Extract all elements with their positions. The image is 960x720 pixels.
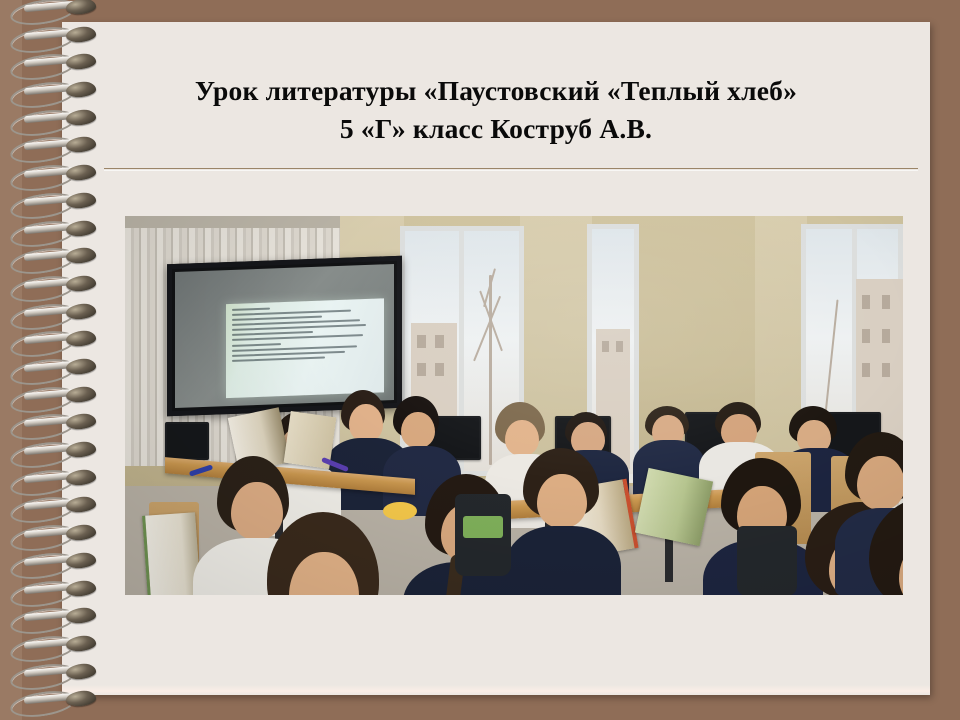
- outside-building-window: [882, 363, 890, 377]
- open-textbook: [635, 468, 713, 546]
- projected-text-line: [232, 310, 351, 316]
- student-head: [857, 456, 903, 510]
- tree-branch: [489, 275, 492, 465]
- projected-text-line: [232, 335, 363, 342]
- projected-text-line: [232, 307, 270, 310]
- projected-text-line: [232, 343, 281, 347]
- outside-building-window: [417, 335, 426, 348]
- outside-building-window: [882, 329, 890, 343]
- outside-building-window: [616, 341, 623, 352]
- projected-text-line: [232, 331, 313, 336]
- outside-building-window: [862, 363, 870, 377]
- spiral-ring-tip: [65, 0, 97, 16]
- background-left-strip: [0, 0, 22, 720]
- spiral-ring-wire-highlight: [24, 1, 76, 13]
- computer-monitor: [165, 422, 209, 460]
- title-line-2: 5 «Г» класс Коструб А.В.: [104, 110, 888, 148]
- outside-building-window: [435, 363, 444, 376]
- outside-building-window: [882, 295, 890, 309]
- outside-building-window: [417, 363, 426, 376]
- projected-text-line: [232, 324, 366, 331]
- title-line-1: Урок литературы «Паустовский «Теплый хле…: [104, 72, 888, 110]
- page-title: Урок литературы «Паустовский «Теплый хле…: [104, 72, 888, 148]
- title-divider-highlight: [104, 170, 918, 171]
- student-head: [401, 412, 435, 448]
- student-head: [349, 404, 383, 442]
- student-head: [537, 474, 587, 528]
- projected-text-line: [232, 351, 345, 357]
- blinds-rail: [125, 216, 340, 228]
- notebook-page: Урок литературы «Паустовский «Теплый хле…: [62, 22, 930, 695]
- monitor-screen: [167, 424, 207, 458]
- classroom-photo: [125, 216, 903, 595]
- projected-text-line: [232, 356, 325, 361]
- outside-building-window: [862, 329, 870, 343]
- projected-slide: [226, 298, 384, 397]
- student-body: [505, 526, 621, 595]
- outside-building-window: [435, 335, 444, 348]
- projected-text-line: [232, 316, 322, 321]
- student-head: [505, 420, 539, 456]
- backpack-patch: [463, 516, 503, 538]
- title-divider: [104, 168, 918, 169]
- outside-building-window: [862, 295, 870, 309]
- presentation-slide: Урок литературы «Паустовский «Теплый хле…: [0, 0, 960, 720]
- backpack: [737, 526, 797, 595]
- outside-building-window: [602, 341, 609, 352]
- pencil-case: [383, 502, 417, 520]
- student-head: [231, 482, 283, 540]
- page-bottom-sheen: [62, 685, 930, 695]
